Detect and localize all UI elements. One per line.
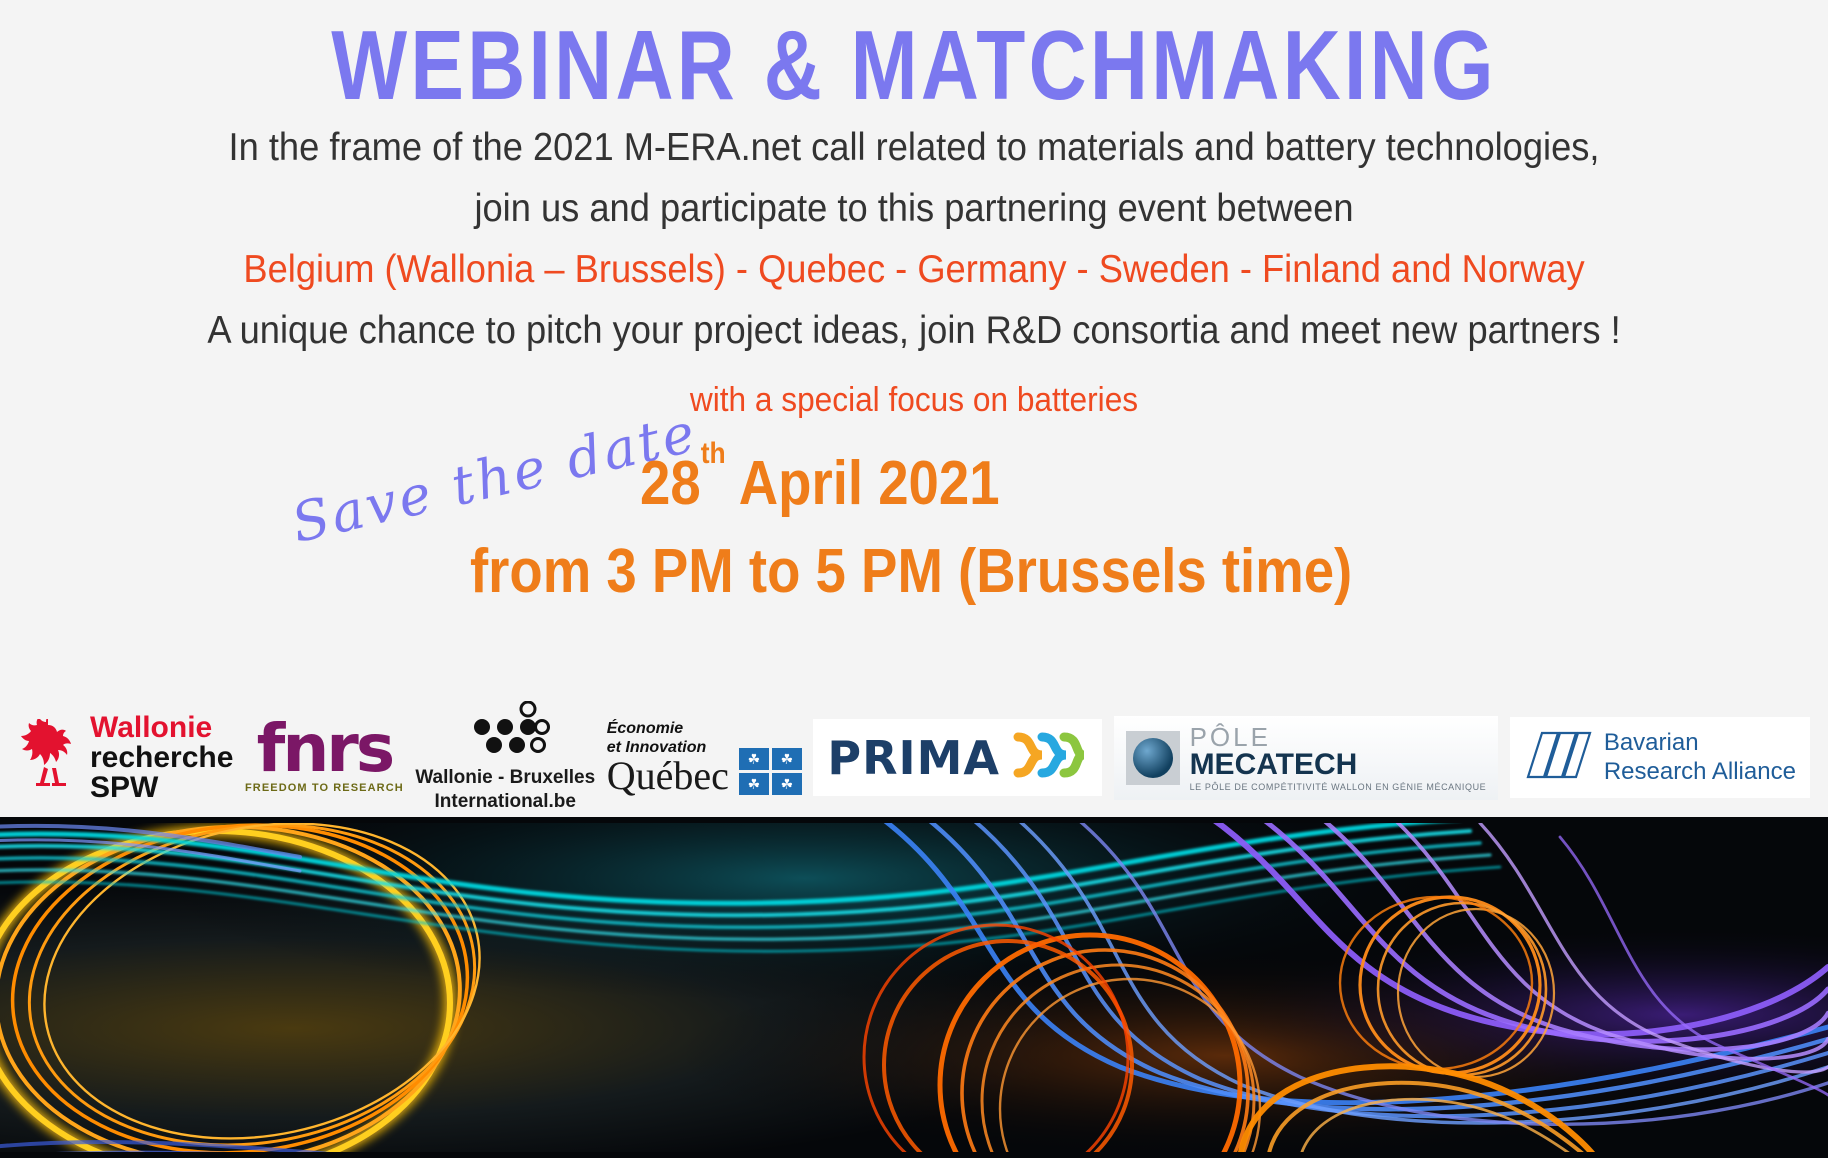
event-date: 28th April 2021 [640,448,1000,519]
logo-fnrs: fnrs FREEDOM TO RESEARCH [245,721,404,793]
spw-line-2: recherche [90,743,233,773]
dot-grid-icon [459,701,551,758]
bra-text: Bavarian Research Alliance [1604,729,1796,786]
sphere-icon [1126,731,1180,785]
body-line-4: A unique chance to pitch your project id… [64,300,1764,361]
page-title: WEBINAR & MATCHMAKING [165,0,1664,117]
mecatech-text: PÔLE MECATECH LE PÔLE DE COMPÉTITIVITÉ W… [1190,724,1487,792]
logo-pole-mecatech: PÔLE MECATECH LE PÔLE DE COMPÉTITIVITÉ W… [1114,716,1499,800]
body-line-1: In the frame of the 2021 M-ERA.net call … [64,117,1764,178]
focus-line: with a special focus on batteries [64,361,1764,428]
logo-quebec: Économie et Innovation Québec ☘☘☘☘ [607,720,802,795]
mecatech-tagline: LE PÔLE DE COMPÉTITIVITÉ WALLON EN GÉNIE… [1190,783,1487,792]
fnrs-tagline: FREEDOM TO RESEARCH [245,782,404,794]
fnrs-wordmark: fnrs [257,721,393,777]
event-date-ordinal: th [701,437,726,470]
prima-wordmark: PRIMA [827,731,1000,785]
date-block: Save the date 28th April 2021 from 3 PM … [0,440,1828,630]
spw-line-3: SPW [90,773,233,803]
prima-chevrons-icon [1012,729,1088,786]
logo-prima: PRIMA [813,719,1102,796]
body-line-2: join us and participate to this partneri… [64,178,1764,239]
event-date-day: 28 [640,449,701,518]
rooster-icon [18,719,80,796]
mecatech-line-1: PÔLE [1190,724,1487,750]
parallelograms-icon [1524,727,1592,788]
logo-strip: Wallonie recherche SPW fnrs FREEDOM TO R… [0,700,1828,815]
quebec-wordmark: Québec [607,757,729,795]
mecatech-line-2: MECATECH [1190,750,1487,780]
spw-text: Wallonie recherche SPW [90,713,233,803]
event-time: from 3 PM to 5 PM (Brussels time) [470,536,1352,607]
body-copy: In the frame of the 2021 M-ERA.net call … [0,117,1828,428]
logo-bavarian-research-alliance: Bavarian Research Alliance [1510,717,1810,798]
wbi-line-2: International.be [435,790,576,814]
poster: WEBINAR & MATCHMAKING In the frame of th… [0,0,1828,1158]
event-date-month-year: April 2021 [726,449,1000,518]
countries-line: Belgium (Wallonia – Brussels) - Quebec -… [64,239,1764,300]
wbi-line-1: Wallonie - Bruxelles [415,766,595,790]
abstract-light-trails-banner [0,817,1828,1158]
quebec-flag-icon: ☘☘☘☘ [739,748,802,795]
logo-wallonie-recherche-spw: Wallonie recherche SPW [18,713,233,803]
spw-line-1: Wallonie [90,713,233,743]
logo-wallonie-bruxelles-international: Wallonie - Bruxelles International.be [415,701,595,814]
bra-line-1: Bavarian [1604,729,1796,757]
quebec-line-1: Économie [607,720,729,738]
bra-line-2: Research Alliance [1604,758,1796,786]
